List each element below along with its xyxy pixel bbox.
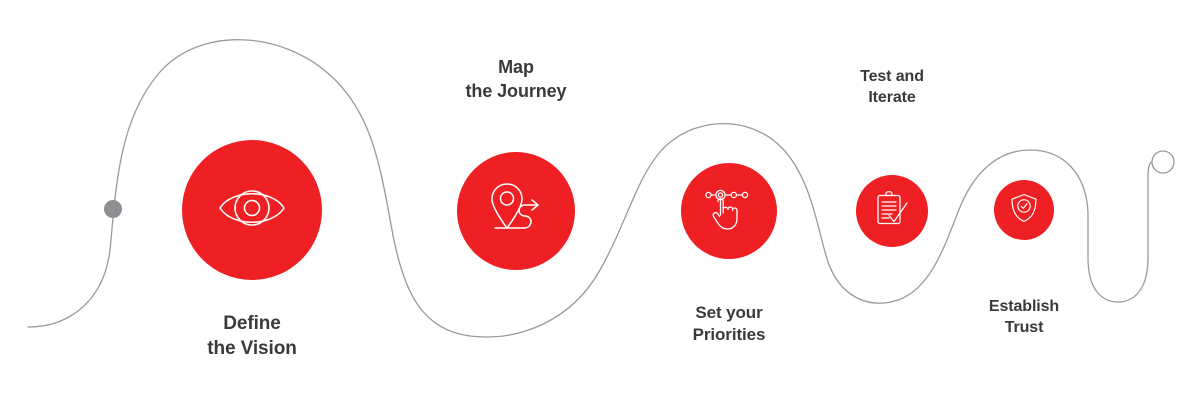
step-node-establish-trust[interactable] [994,180,1054,240]
map-pin-route-icon [485,178,547,245]
hand-pointer-nodes-icon [704,184,754,239]
eye-icon [216,172,288,249]
step-label-map-the-journey: Map the Journey [416,56,616,104]
shield-check-icon [1009,193,1039,228]
step-node-define-the-vision[interactable] [182,140,322,280]
step-label-set-your-priorities: Set your Priorities [629,302,829,347]
clipboard-check-icon [873,190,911,233]
start-dot [104,200,122,218]
step-label-test-and-iterate: Test and Iterate [792,66,992,108]
step-label-establish-trust: Establish Trust [924,296,1124,338]
step-label-define-the-vision: Define the Vision [152,311,352,361]
process-flow-infographic: Define the Vision Map the Journey [0,0,1200,404]
step-node-test-and-iterate[interactable] [856,175,928,247]
step-node-set-your-priorities[interactable] [681,163,777,259]
step-node-map-the-journey[interactable] [457,152,575,270]
end-ring [1152,151,1174,173]
